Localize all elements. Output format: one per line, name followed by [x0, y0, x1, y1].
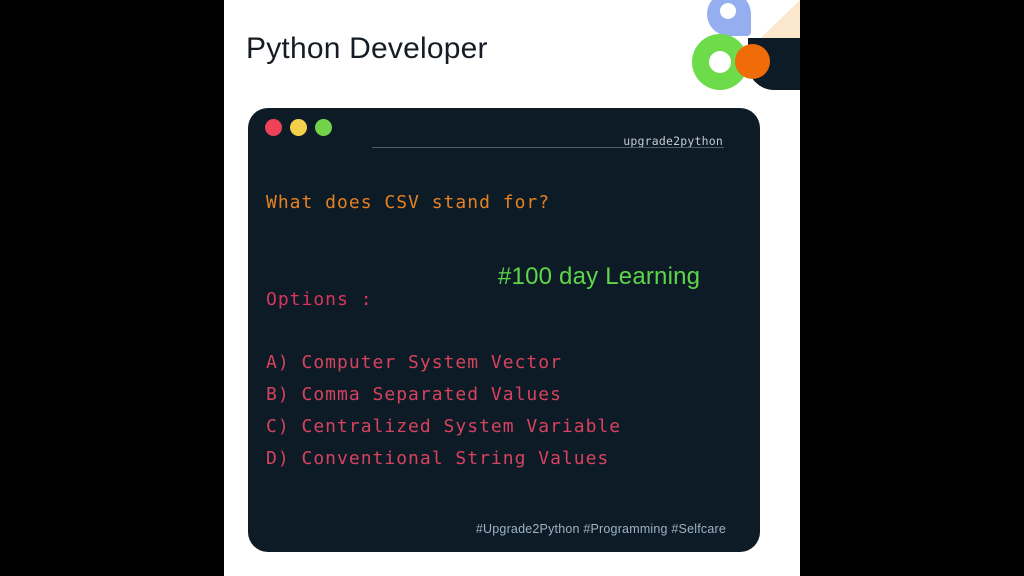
- blue-pin-icon: [707, 0, 751, 36]
- titlebar-divider: [372, 147, 724, 148]
- option-c[interactable]: C) Centralized System Variable: [266, 416, 621, 438]
- terminal-title-label: upgrade2python: [623, 134, 723, 148]
- option-b[interactable]: B) Comma Separated Values: [266, 384, 621, 406]
- options-list: A) Computer System Vector B) Comma Separ…: [266, 352, 621, 470]
- learning-badge: #100 day Learning: [498, 263, 700, 291]
- options-label: Options :: [266, 289, 373, 310]
- letterbox-left: [0, 0, 224, 576]
- option-a[interactable]: A) Computer System Vector: [266, 352, 621, 374]
- hashtags-text: #Upgrade2Python #Programming #Selfcare: [476, 522, 726, 536]
- letterbox-right: [800, 0, 1024, 576]
- question-text: What does CSV stand for?: [266, 192, 550, 213]
- option-d[interactable]: D) Conventional String Values: [266, 448, 621, 470]
- terminal-window: upgrade2python What does CSV stand for? …: [248, 108, 760, 552]
- slide-card: Python Developer upgrade2python What doe…: [224, 0, 800, 576]
- maximize-button-icon[interactable]: [315, 119, 332, 136]
- orange-dot-icon: [735, 44, 770, 79]
- brand-logo: [690, 0, 800, 102]
- terminal-titlebar: upgrade2python: [248, 108, 760, 150]
- page-title: Python Developer: [246, 32, 488, 66]
- window-controls: [265, 119, 332, 136]
- minimize-button-icon[interactable]: [290, 119, 307, 136]
- terminal-content: What does CSV stand for? #100 day Learni…: [248, 150, 760, 552]
- close-button-icon[interactable]: [265, 119, 282, 136]
- slide-canvas: Python Developer upgrade2python What doe…: [0, 0, 1024, 576]
